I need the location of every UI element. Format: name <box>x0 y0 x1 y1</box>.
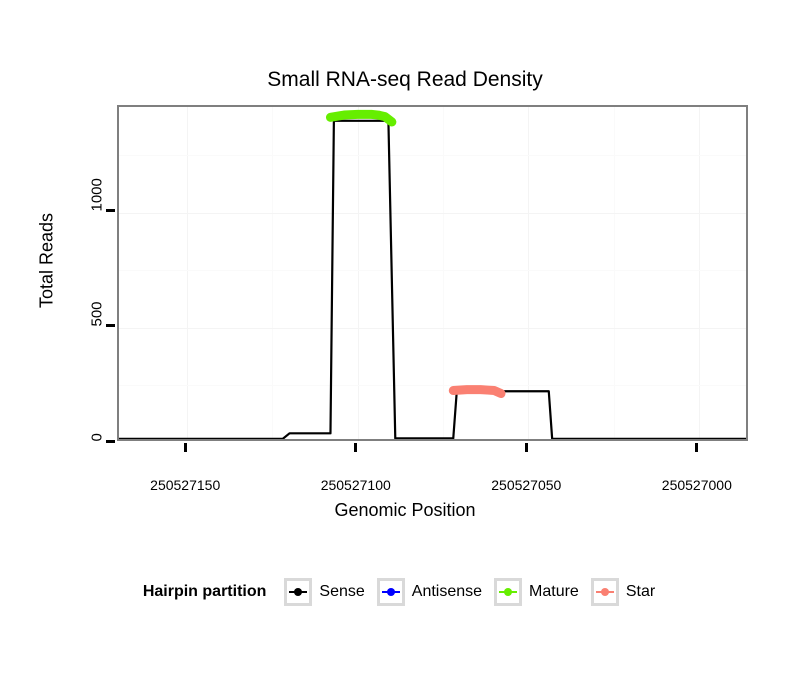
legend-key-antisense <box>377 578 405 606</box>
chart-figure: Small RNA-seq Read Density 05001000 2505… <box>0 0 810 690</box>
x-tick-label: 250527050 <box>466 477 586 493</box>
x-tick-mark <box>525 443 528 452</box>
series-line-sense <box>119 121 746 439</box>
x-tick-mark <box>184 443 187 452</box>
series-line-star <box>453 390 501 394</box>
x-tick-label: 250527100 <box>296 477 416 493</box>
plot-panel-inner <box>119 107 746 439</box>
chart-title: Small RNA-seq Read Density <box>0 68 810 92</box>
y-tick-mark <box>106 209 115 212</box>
legend-key-point <box>601 588 609 596</box>
legend-entry-star[interactable]: Star <box>591 578 655 606</box>
plot-panel <box>117 105 748 441</box>
x-tick-label: 250527150 <box>125 477 245 493</box>
legend-entry-antisense[interactable]: Antisense <box>377 578 482 606</box>
x-tick-label: 250527000 <box>637 477 757 493</box>
legend-key-mature <box>494 578 522 606</box>
legend-key-sense <box>284 578 312 606</box>
legend-label: Sense <box>319 583 364 601</box>
y-axis-title: Total Reads <box>37 181 58 341</box>
y-tick-mark <box>106 324 115 327</box>
x-tick-mark <box>354 443 357 452</box>
legend-entry-sense[interactable]: Sense <box>284 578 364 606</box>
legend-label: Star <box>626 583 655 601</box>
x-tick-mark <box>695 443 698 452</box>
legend-title: Hairpin partition <box>143 583 267 601</box>
series-layer <box>119 107 746 439</box>
x-axis-title: Genomic Position <box>0 500 810 521</box>
legend-entry-mature[interactable]: Mature <box>494 578 579 606</box>
legend-label: Antisense <box>412 583 482 601</box>
legend-key-star <box>591 578 619 606</box>
legend-key-point <box>504 588 512 596</box>
legend: Hairpin partition SenseAntisenseMatureSt… <box>0 578 810 606</box>
legend-key-point <box>387 588 395 596</box>
legend-label: Mature <box>529 583 579 601</box>
y-tick-mark <box>106 440 115 443</box>
legend-key-point <box>294 588 302 596</box>
